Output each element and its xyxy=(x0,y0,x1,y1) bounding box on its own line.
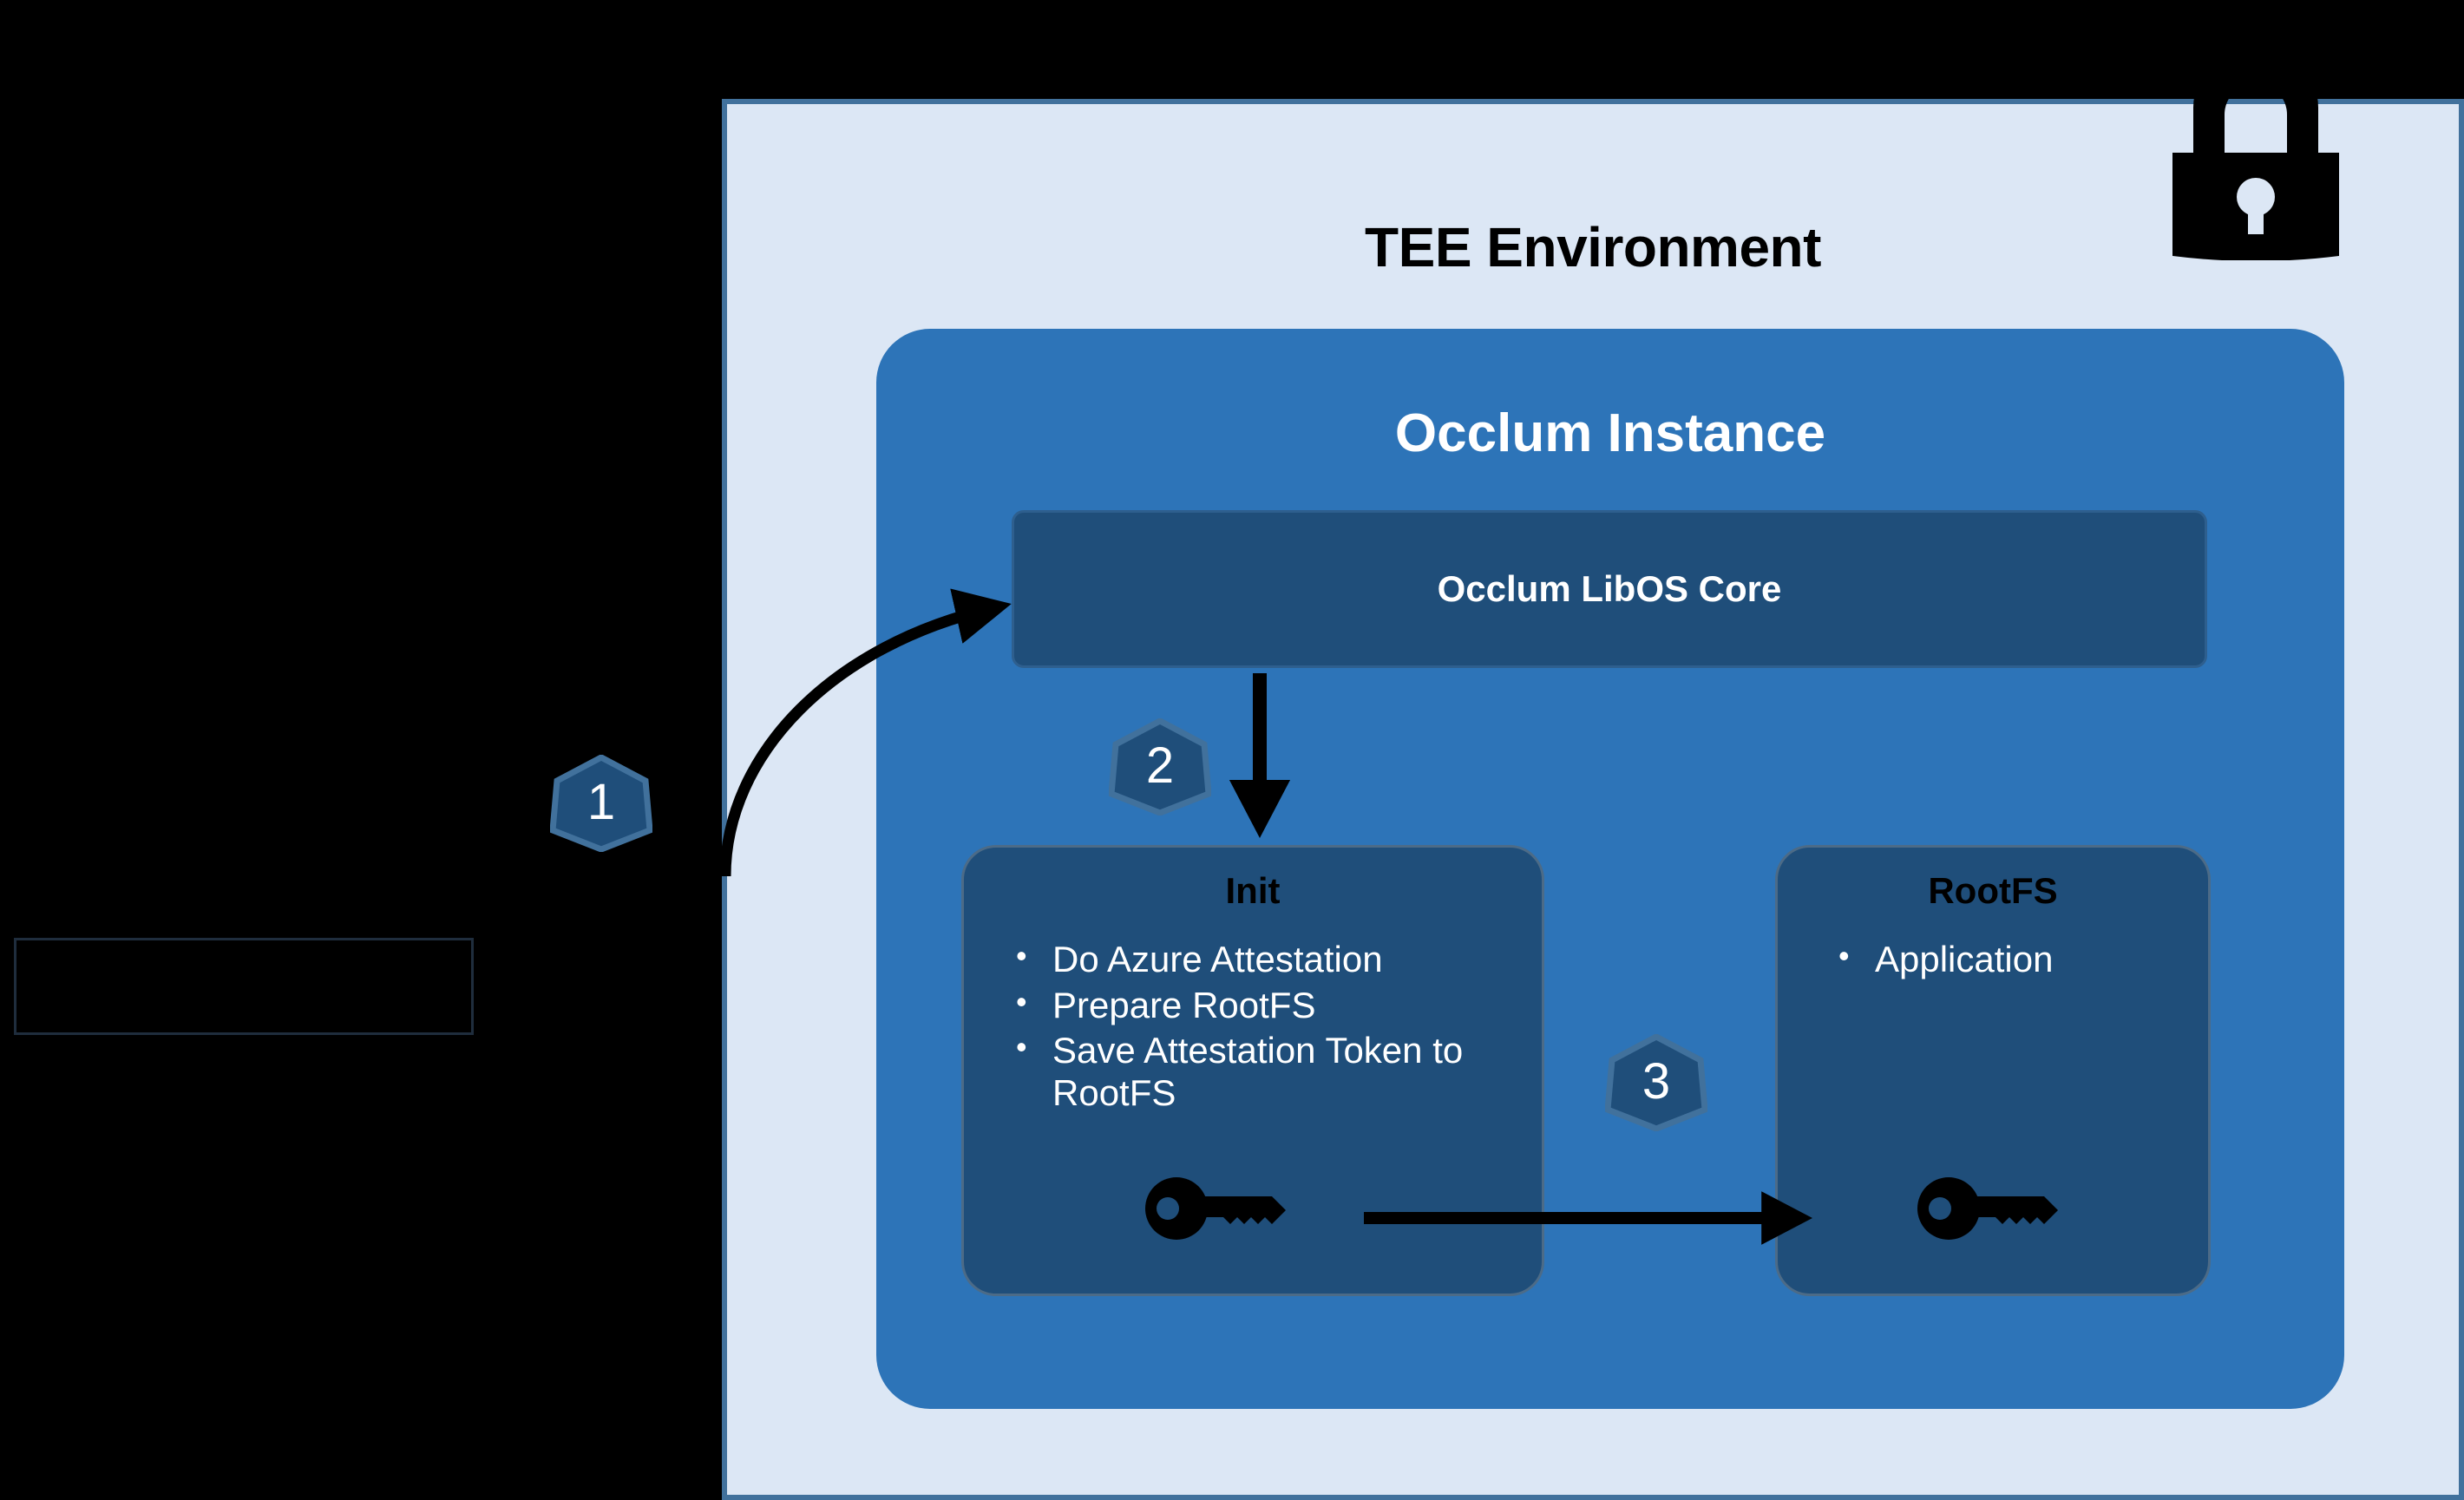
rootfs-box-title: RootFS xyxy=(1778,870,2208,912)
step-badge-2-number: 2 xyxy=(1109,718,1211,816)
key-icon xyxy=(1917,1174,2063,1243)
init-box-title: Init xyxy=(964,870,1542,912)
init-bullet-list: Do Azure Attestation Prepare RootFS Save… xyxy=(1000,939,1524,1118)
padlock-icon xyxy=(2160,95,2351,260)
list-item: Prepare RootFS xyxy=(1000,985,1524,1027)
step-badge-1-number: 1 xyxy=(550,755,652,852)
list-item: Application xyxy=(1823,939,2191,981)
empty-placeholder-rect xyxy=(14,938,474,1035)
step-badge-1: 1 xyxy=(550,755,652,852)
diagram-canvas: TEE Environment Occlum Instance Occlum L… xyxy=(0,0,2464,1500)
occlum-libos-core-box: Occlum LibOS Core xyxy=(1012,510,2207,668)
rootfs-bullet-list: Application xyxy=(1823,939,2191,985)
step-badge-2: 2 xyxy=(1109,718,1211,816)
occlum-libos-core-label: Occlum LibOS Core xyxy=(1438,568,1782,610)
step-badge-3-number: 3 xyxy=(1605,1034,1707,1131)
key-icon xyxy=(1145,1174,1291,1243)
list-item: Do Azure Attestation xyxy=(1000,939,1524,981)
step-badge-3: 3 xyxy=(1605,1034,1707,1131)
list-item: Save Attestation Token to RootFS xyxy=(1000,1030,1524,1114)
occlum-instance-title: Occlum Instance xyxy=(876,403,2344,464)
